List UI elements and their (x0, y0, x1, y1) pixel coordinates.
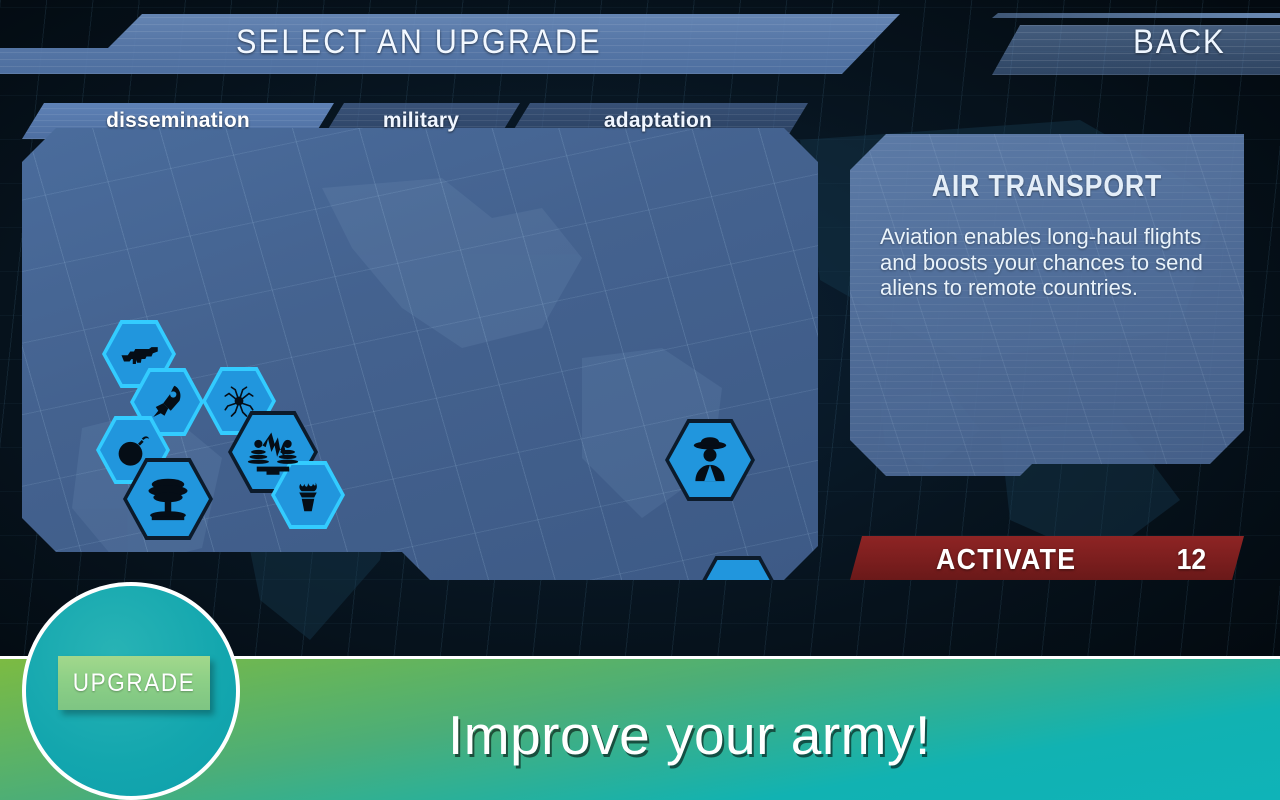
tab-label: adaptation (590, 109, 726, 133)
activate-button[interactable]: ACTIVATE 12 (850, 536, 1244, 580)
upgrade-button[interactable]: UPGRADE (58, 656, 210, 710)
tab-label: military (369, 109, 473, 133)
upgrade-map-panel (22, 128, 818, 580)
upgrade-node-nuclear[interactable] (127, 462, 209, 536)
tesla-coil-icon (247, 426, 299, 478)
rocket-icon (147, 382, 187, 422)
nuclear-icon (142, 473, 194, 525)
upgrade-node-spy[interactable] (669, 423, 751, 497)
promo-text: Improve your army! (448, 703, 931, 767)
torch-icon (288, 475, 328, 515)
activate-cost-value: 12 (1176, 544, 1206, 577)
page-title: SELECT AN UPGRADE (236, 23, 602, 62)
info-panel-grid (850, 134, 1244, 494)
rifle-icon (119, 334, 159, 374)
bomb-icon (113, 430, 153, 470)
spy-icon (684, 434, 736, 486)
back-button-accent-bar (992, 13, 1280, 18)
upgrade-button-label: UPGRADE (73, 669, 196, 698)
spider-swarm-icon (219, 381, 259, 421)
activate-button-label: ACTIVATE (936, 544, 1076, 577)
back-button-label: BACK (1133, 23, 1226, 62)
tab-label: dissemination (92, 109, 264, 133)
